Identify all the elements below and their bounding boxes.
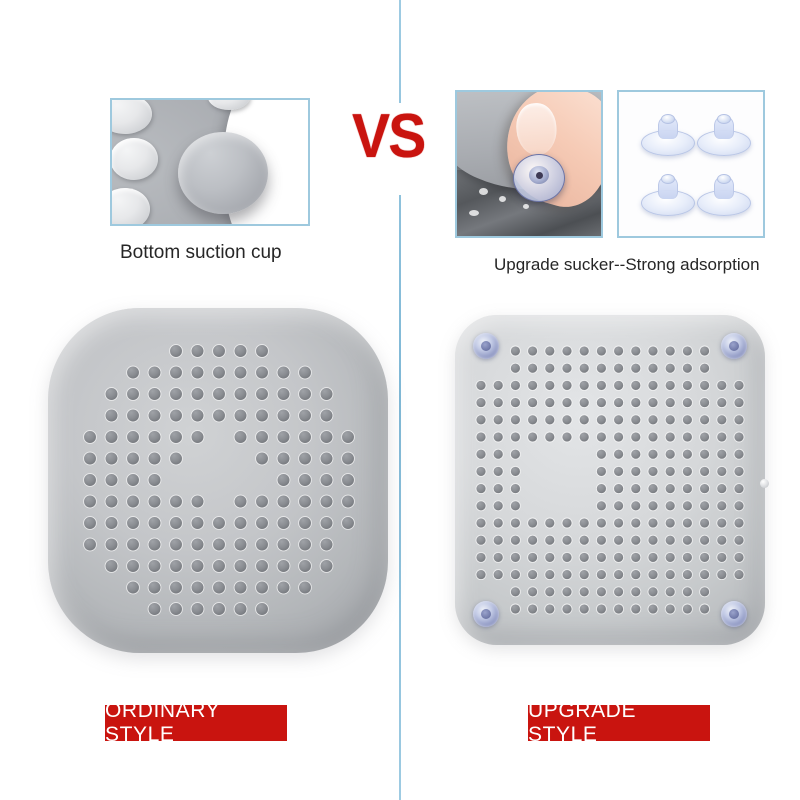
suction-cup-top	[717, 114, 731, 124]
ordinary-style-badge: ORDINARY STYLE	[105, 705, 287, 741]
corner-suction-cup	[473, 333, 499, 359]
suction-cup-dome	[178, 132, 268, 214]
suction-cup	[697, 174, 749, 216]
suction-cup	[641, 174, 693, 216]
four-suction-cups-photo	[617, 90, 765, 238]
photo-inner	[112, 100, 308, 224]
upgrade-style-badge: UPGRADE STYLE	[528, 705, 710, 741]
right-detail-caption: Upgrade sucker--Strong adsorption	[494, 255, 760, 275]
left-detail-caption: Bottom suction cup	[120, 242, 282, 264]
water-drop	[523, 204, 529, 209]
corner-suction-cup	[721, 333, 747, 359]
photo-inner	[457, 92, 601, 236]
photo-inner	[619, 92, 763, 236]
comparison-infographic: VS Bottom suction cup	[0, 0, 800, 800]
corner-suction-cup	[721, 601, 747, 627]
sucker-closeup	[513, 154, 565, 202]
water-drop	[499, 196, 506, 202]
suction-cup	[697, 114, 749, 156]
finger-pressing-sucker-photo	[455, 90, 603, 238]
suction-cup-top	[661, 174, 675, 184]
bottom-suction-cup-photo	[110, 98, 310, 226]
water-drop	[479, 188, 488, 195]
ordinary-strainer-photo	[48, 308, 388, 653]
water-drop	[469, 210, 479, 216]
macro-hole	[112, 138, 158, 180]
upgrade-strainer-photo	[455, 315, 765, 645]
side-nub	[760, 479, 769, 488]
upgrade-hole-pattern	[465, 335, 755, 625]
suction-cup-top	[661, 114, 675, 124]
ordinary-hole-pattern	[68, 331, 368, 631]
suction-cup	[641, 114, 693, 156]
suction-cup-top	[717, 174, 731, 184]
fingernail	[515, 102, 559, 157]
corner-suction-cup	[473, 601, 499, 627]
versus-label: VS	[352, 106, 424, 168]
